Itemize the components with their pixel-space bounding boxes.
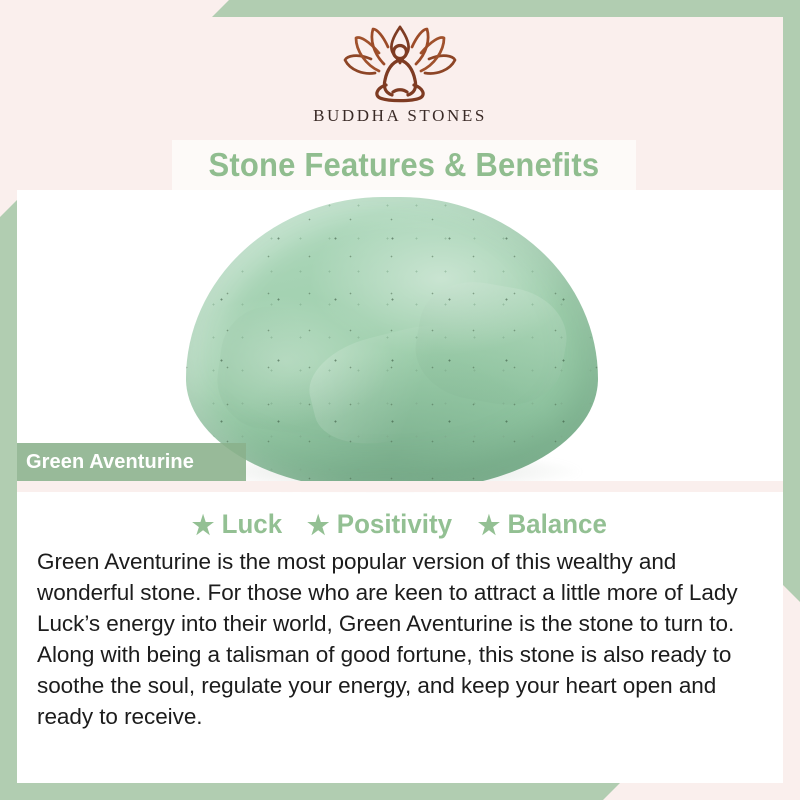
star-icon: ★ — [307, 513, 330, 537]
brand-header: BUDDHA STONES — [17, 17, 783, 138]
stone-description: Green Aventurine is the most popular ver… — [37, 546, 763, 732]
green-aventurine-stone — [186, 197, 598, 490]
brand-wordmark: BUDDHA STONES — [313, 106, 487, 126]
stone-name-label: Green Aventurine — [17, 451, 194, 474]
keyword-label: Positivity — [337, 509, 452, 540]
content-card: Green Aventurine ★ Luck ★ Positivity ★ B… — [17, 190, 783, 783]
photo-bottom-seam — [17, 481, 783, 492]
stone-photo: Green Aventurine — [17, 190, 783, 493]
title-banner: Stone Features & Benefits — [172, 140, 636, 190]
stone-speckles — [186, 197, 598, 490]
keyword-luck: ★ Luck — [192, 509, 282, 540]
star-icon: ★ — [478, 513, 501, 537]
keyword-list: ★ Luck ★ Positivity ★ Balance — [37, 509, 763, 540]
keyword-label: Luck — [222, 509, 283, 540]
lotus-meditating-figure-icon — [340, 22, 460, 104]
frame-band-right — [783, 0, 800, 602]
star-icon: ★ — [192, 513, 215, 537]
keyword-balance: ★ Balance — [478, 509, 607, 540]
keyword-label: Balance — [508, 509, 607, 540]
stone-name-bar: Green Aventurine — [17, 443, 246, 481]
frame-band-left — [0, 200, 17, 800]
copy-block: ★ Luck ★ Positivity ★ Balance Green Aven… — [17, 493, 783, 732]
frame-band-top — [212, 0, 800, 17]
poster-canvas: BUDDHA STONES Stone Features & Benefits … — [0, 0, 800, 800]
frame-band-bottom — [0, 783, 620, 800]
keyword-positivity: ★ Positivity — [307, 509, 452, 540]
page-title: Stone Features & Benefits — [209, 146, 600, 184]
